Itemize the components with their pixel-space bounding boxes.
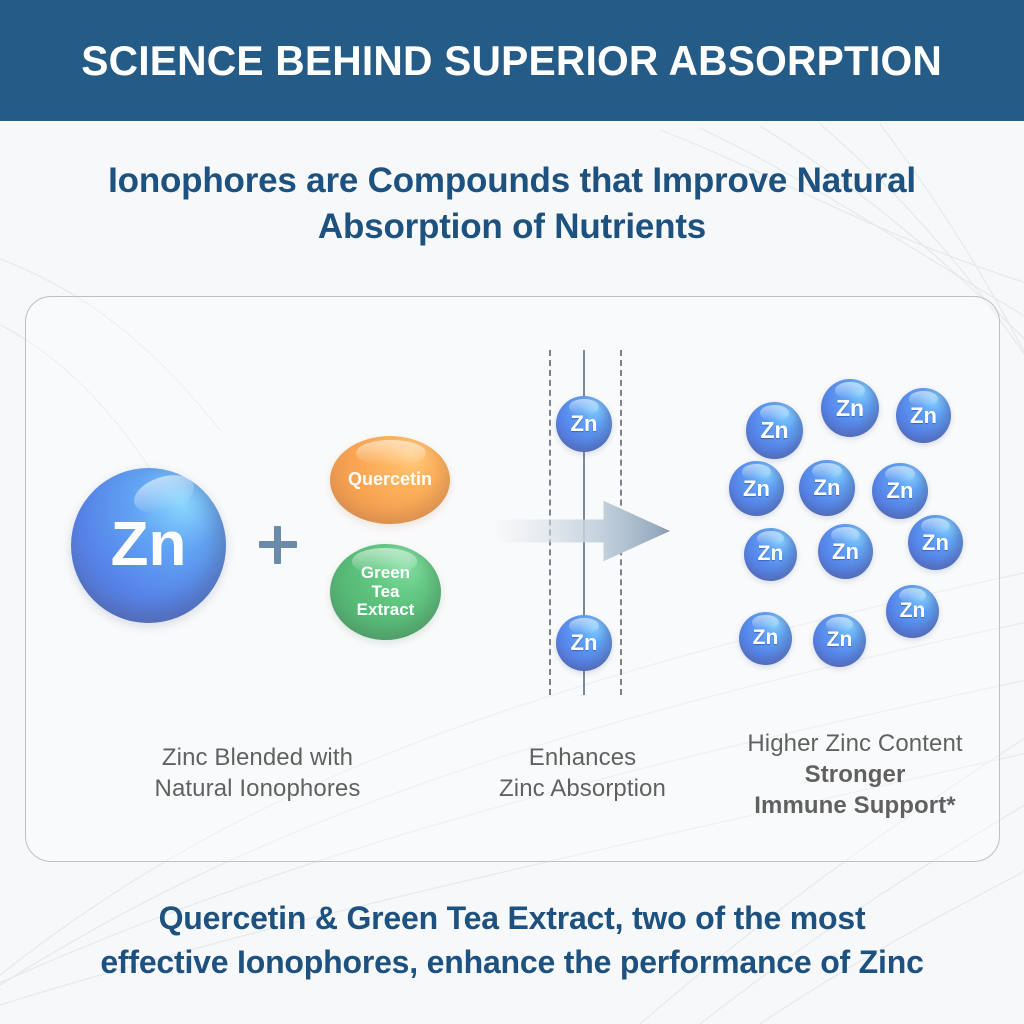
subtitle-line-1: Ionophores are Compounds that Improve Na… (0, 158, 1024, 204)
zinc-sphere-cluster-5-label: Zn (814, 476, 841, 500)
zinc-sphere-cluster-2-label: Zn (836, 396, 864, 421)
zinc-sphere-cluster-11-label: Zn (753, 627, 779, 650)
zinc-sphere-cluster-10-label: Zn (900, 600, 926, 623)
zinc-sphere-membrane-bottom-label: Zn (571, 631, 598, 655)
zinc-sphere-cluster-12-label: Zn (827, 629, 853, 652)
green-tea-line-2: Tea (371, 582, 399, 601)
subtitle: Ionophores are Compounds that Improve Na… (0, 158, 1024, 250)
page-title: SCIENCE BEHIND SUPERIOR ABSORPTION (82, 37, 943, 85)
zinc-sphere-large-label: Zn (111, 512, 187, 579)
zinc-sphere-cluster-1-label: Zn (760, 418, 788, 443)
green-tea-extract-label: Green Tea Extract (357, 564, 415, 619)
diagram-card (25, 296, 1000, 862)
zinc-sphere-cluster-6-label: Zn (887, 479, 914, 503)
quercetin-label: Quercetin (348, 470, 432, 489)
zinc-sphere-cluster-9-label: Zn (832, 540, 859, 564)
zinc-sphere-cluster-4-label: Zn (743, 477, 770, 501)
zinc-sphere-membrane-top-label: Zn (571, 412, 598, 436)
zinc-sphere-cluster-3-label: Zn (910, 404, 937, 428)
zinc-sphere-cluster-8-label: Zn (758, 543, 784, 566)
zinc-sphere-cluster-7-label: Zn (922, 531, 949, 555)
green-tea-line-1: Green (361, 563, 410, 582)
header-banner: SCIENCE BEHIND SUPERIOR ABSORPTION (0, 0, 1024, 121)
bottom-statement-line-1: Quercetin & Green Tea Extract, two of th… (0, 896, 1024, 940)
green-tea-line-3: Extract (357, 600, 415, 619)
bottom-statement: Quercetin & Green Tea Extract, two of th… (0, 896, 1024, 984)
subtitle-line-2: Absorption of Nutrients (0, 204, 1024, 250)
bottom-statement-line-2: effective Ionophores, enhance the perfor… (0, 940, 1024, 984)
